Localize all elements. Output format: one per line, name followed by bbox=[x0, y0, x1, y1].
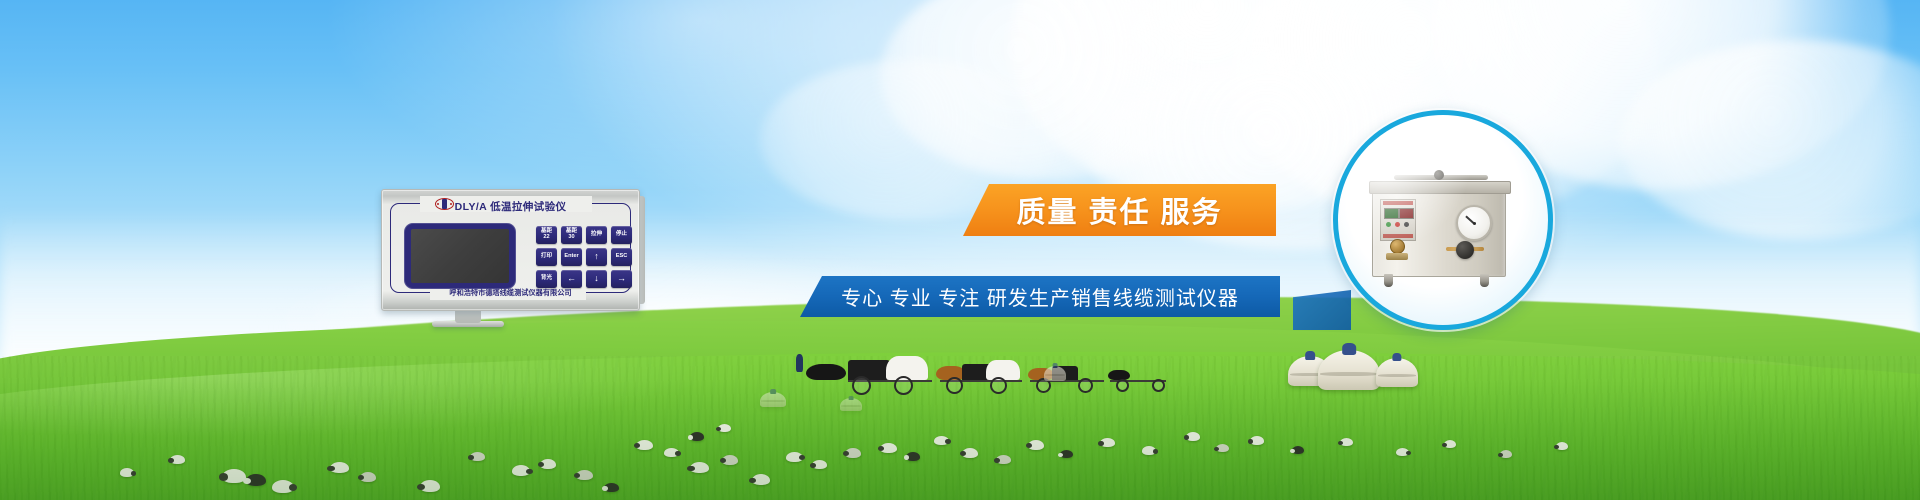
stop-button-icon bbox=[1395, 222, 1400, 227]
secondary-slogan-banner: 专心 专业 专注 研发生产销售线缆测试仪器 bbox=[800, 276, 1280, 317]
valve-knob bbox=[1456, 241, 1474, 259]
yurt bbox=[1376, 358, 1418, 387]
key-gauge-22[interactable]: 基距 22 bbox=[536, 226, 557, 244]
chamber-top-knob bbox=[1434, 170, 1444, 180]
key-stop[interactable]: 停止 bbox=[611, 226, 632, 244]
cart-body bbox=[848, 360, 890, 380]
cart-wheel bbox=[990, 377, 1007, 394]
control-panel bbox=[1380, 199, 1416, 241]
key-print[interactable]: 打印 bbox=[536, 248, 557, 266]
cart-canopy bbox=[986, 360, 1020, 380]
cart-wheel bbox=[894, 376, 913, 395]
chamber-lid bbox=[1369, 181, 1511, 194]
cart-wheel bbox=[1116, 379, 1129, 392]
power-switch-icon bbox=[1404, 222, 1409, 227]
key-arrow-down[interactable]: ↓ bbox=[586, 270, 607, 288]
herder-figure bbox=[796, 354, 803, 372]
device-lcd-screen[interactable] bbox=[411, 229, 509, 283]
cart-wheel bbox=[852, 376, 871, 395]
tent bbox=[760, 392, 786, 407]
nameplate bbox=[1386, 253, 1408, 260]
caster-wheel bbox=[1384, 274, 1393, 287]
key-arrow-left[interactable]: ← bbox=[561, 270, 582, 288]
ox bbox=[806, 364, 846, 380]
start-button-icon bbox=[1386, 222, 1391, 227]
yurt bbox=[1044, 366, 1066, 381]
key-backlight[interactable]: 背光 bbox=[536, 270, 557, 288]
device-model-title: DLY/A 低温拉伸试验仪 bbox=[382, 199, 639, 214]
ox-cart-caravan bbox=[790, 352, 1170, 402]
key-stretch[interactable]: 拉伸 bbox=[586, 226, 607, 244]
drain-port bbox=[1390, 239, 1405, 254]
key-arrow-right[interactable]: → bbox=[611, 270, 632, 288]
timer-display bbox=[1399, 208, 1414, 219]
steam-aging-test-chamber bbox=[1372, 177, 1508, 281]
caster-wheel bbox=[1480, 274, 1489, 287]
device-company-name: 呼和浩特市德塔线缆测试仪器有限公司 bbox=[382, 288, 639, 298]
cart-wheel bbox=[1078, 378, 1093, 393]
primary-slogan-banner: 质量 责任 服务 bbox=[963, 184, 1276, 236]
key-arrow-up[interactable]: ↑ bbox=[586, 248, 607, 266]
primary-slogan-text: 质量 责任 服务 bbox=[1016, 189, 1222, 231]
cart-wheel bbox=[1152, 379, 1165, 392]
hero-banner: DLY/A 低温拉伸试验仪 基距 22 基距 30 拉伸 停止 打印 Enter… bbox=[0, 0, 1920, 500]
key-enter[interactable]: Enter bbox=[561, 248, 582, 266]
secondary-slogan-text: 专心 专业 专注 研发生产销售线缆测试仪器 bbox=[841, 282, 1239, 311]
key-esc[interactable]: ESC bbox=[611, 248, 632, 266]
cart-wheel bbox=[946, 377, 963, 394]
device-keypad[interactable]: 基距 22 基距 30 拉伸 停止 打印 Enter ↑ ESC 背光 ← ↓ … bbox=[536, 226, 632, 288]
tent bbox=[840, 398, 862, 411]
product-badge[interactable] bbox=[1333, 110, 1553, 330]
temperature-display bbox=[1384, 208, 1399, 219]
pressure-gauge-icon bbox=[1456, 205, 1492, 241]
tensile-tester-device: DLY/A 低温拉伸试验仪 基距 22 基距 30 拉伸 停止 打印 Enter… bbox=[381, 189, 640, 311]
device-screen-bezel bbox=[404, 223, 516, 289]
key-gauge-30[interactable]: 基距 30 bbox=[561, 226, 582, 244]
